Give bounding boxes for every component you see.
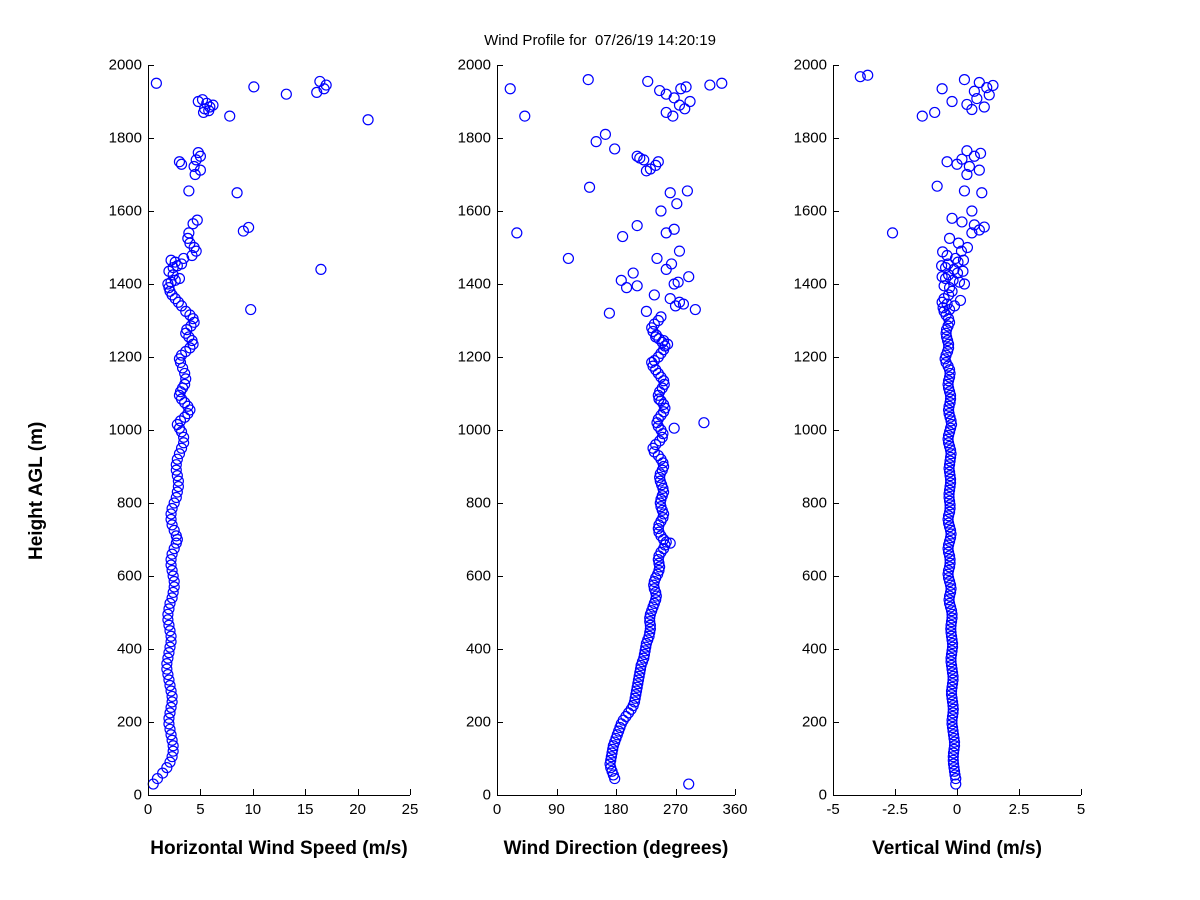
x-tick-vertical-wind-0 [833,789,834,795]
y-tick-label-horizontal-wind-speed-0: 0 [86,787,142,804]
x-tick-vertical-wind-4 [1081,789,1082,795]
scatter-plot-wind-direction [497,65,735,795]
data-point [988,80,998,90]
data-point [682,186,692,196]
y-tick-horizontal-wind-speed-0 [148,795,154,796]
x-tick-label-horizontal-wind-speed-3: 15 [297,801,314,818]
y-tick-label-horizontal-wind-speed-1: 200 [86,714,142,731]
y-tick-vertical-wind-10 [833,65,839,66]
data-point [505,84,515,94]
x-tick-wind-direction-3 [676,789,677,795]
data-point [193,148,203,158]
x-tick-label-wind-direction-4: 360 [722,801,747,818]
y-tick-wind-direction-9 [497,138,503,139]
data-point [563,253,573,263]
scatter-plot-horizontal-wind-speed [148,65,410,795]
data-point [669,224,679,234]
data-point [977,188,987,198]
x-tick-vertical-wind-2 [957,789,958,795]
data-point [962,146,972,156]
x-tick-horizontal-wind-speed-0 [148,789,149,795]
y-tick-label-horizontal-wind-speed-6: 1200 [86,349,142,366]
y-tick-vertical-wind-2 [833,649,839,650]
y-tick-label-wind-direction-1: 200 [435,714,491,731]
data-point [585,182,595,192]
data-point [649,290,659,300]
x-tick-horizontal-wind-speed-5 [410,789,411,795]
x-tick-vertical-wind-3 [1019,789,1020,795]
data-point [684,272,694,282]
data-point [618,232,628,242]
y-tick-vertical-wind-1 [833,722,839,723]
y-tick-label-wind-direction-7: 1400 [435,276,491,293]
data-point [947,213,957,223]
y-tick-label-horizontal-wind-speed-9: 1800 [86,130,142,147]
scatter-plot-vertical-wind [833,65,1081,795]
y-tick-wind-direction-0 [497,795,503,796]
x-tick-label-vertical-wind-3: 2.5 [1009,801,1030,818]
y-tick-label-vertical-wind-6: 1200 [771,349,827,366]
x-tick-label-wind-direction-0: 0 [493,801,501,818]
y-tick-vertical-wind-6 [833,357,839,358]
data-point [930,107,940,117]
data-point [959,186,969,196]
data-point [616,275,626,285]
data-point [863,70,873,80]
data-point [169,525,179,535]
data-point [184,186,194,196]
x-tick-horizontal-wind-speed-2 [253,789,254,795]
data-point [177,443,187,453]
y-tick-vertical-wind-8 [833,211,839,212]
x-tick-label-wind-direction-2: 180 [603,801,628,818]
y-tick-label-horizontal-wind-speed-10: 2000 [86,57,142,74]
y-tick-label-vertical-wind-0: 0 [771,787,827,804]
data-point [316,264,326,274]
x-axis-label-horizontal-wind-speed: Horizontal Wind Speed (m/s) [79,838,479,860]
data-point [246,305,256,315]
y-tick-horizontal-wind-speed-10 [148,65,154,66]
y-tick-vertical-wind-9 [833,138,839,139]
data-point [669,423,679,433]
data-point [673,277,683,287]
figure-root: Wind Profile for 07/26/19 14:20:19 02004… [0,0,1200,900]
x-tick-horizontal-wind-speed-1 [200,789,201,795]
y-tick-label-vertical-wind-8: 1600 [771,203,827,220]
data-point [684,779,694,789]
data-point [939,281,949,291]
x-tick-label-horizontal-wind-speed-0: 0 [144,801,152,818]
y-tick-label-horizontal-wind-speed-7: 1400 [86,276,142,293]
data-point [604,308,614,318]
data-point [674,246,684,256]
data-point [942,157,952,167]
y-tick-label-vertical-wind-5: 1000 [771,422,827,439]
data-point [632,221,642,231]
x-tick-wind-direction-0 [497,789,498,795]
x-tick-vertical-wind-1 [895,789,896,795]
x-tick-label-vertical-wind-4: 5 [1077,801,1085,818]
y-tick-label-vertical-wind-7: 1400 [771,276,827,293]
data-point [600,129,610,139]
y-tick-horizontal-wind-speed-6 [148,357,154,358]
data-point [232,188,242,198]
y-tick-vertical-wind-7 [833,284,839,285]
data-point [937,272,947,282]
data-point [685,97,695,107]
data-point [699,418,709,428]
data-point [979,102,989,112]
y-tick-label-wind-direction-6: 1200 [435,349,491,366]
data-point [363,115,373,125]
data-point [583,75,593,85]
data-point [628,268,638,278]
data-point [690,305,700,315]
y-tick-label-wind-direction-3: 600 [435,568,491,585]
data-point [974,165,984,175]
data-point [917,111,927,121]
data-point [151,78,161,88]
data-point [225,111,235,121]
y-tick-horizontal-wind-speed-7 [148,284,154,285]
data-point [976,148,986,158]
y-tick-label-wind-direction-8: 1600 [435,203,491,220]
x-tick-label-horizontal-wind-speed-5: 25 [402,801,419,818]
x-tick-wind-direction-4 [735,789,736,795]
y-tick-horizontal-wind-speed-5 [148,430,154,431]
data-point [665,188,675,198]
x-tick-label-horizontal-wind-speed-1: 5 [196,801,204,818]
data-point [249,82,259,92]
y-tick-label-horizontal-wind-speed-4: 800 [86,495,142,512]
y-tick-wind-direction-7 [497,284,503,285]
axis-spine-bottom-wind-direction [497,795,735,796]
data-point [652,253,662,263]
data-point [937,261,947,271]
data-point [610,144,620,154]
y-tick-horizontal-wind-speed-3 [148,576,154,577]
data-point [932,181,942,191]
data-point [955,295,965,305]
data-point [967,206,977,216]
y-tick-horizontal-wind-speed-2 [148,649,154,650]
data-point [959,75,969,85]
y-tick-horizontal-wind-speed-9 [148,138,154,139]
panel-wind-direction [497,65,735,795]
x-tick-horizontal-wind-speed-3 [305,789,306,795]
x-axis-label-vertical-wind: Vertical Wind (m/s) [777,838,1137,860]
y-tick-wind-direction-6 [497,357,503,358]
panel-horizontal-wind-speed [148,65,410,795]
y-tick-vertical-wind-0 [833,795,839,796]
data-point [667,259,677,269]
data-point [185,405,195,415]
x-tick-label-vertical-wind-0: -5 [826,801,839,818]
y-tick-label-horizontal-wind-speed-5: 1000 [86,422,142,439]
y-tick-label-vertical-wind-2: 400 [771,641,827,658]
data-point [520,111,530,121]
y-tick-label-vertical-wind-3: 600 [771,568,827,585]
data-point [958,266,968,276]
y-tick-wind-direction-1 [497,722,503,723]
y-tick-label-vertical-wind-4: 800 [771,495,827,512]
data-point [512,228,522,238]
y-tick-vertical-wind-3 [833,576,839,577]
data-point [888,228,898,238]
data-point [281,89,291,99]
figure-title: Wind Profile for 07/26/19 14:20:19 [0,32,1200,49]
data-point [974,78,984,88]
y-tick-horizontal-wind-speed-1 [148,722,154,723]
y-tick-label-horizontal-wind-speed-8: 1600 [86,203,142,220]
y-tick-wind-direction-2 [497,649,503,650]
y-tick-horizontal-wind-speed-4 [148,503,154,504]
y-tick-vertical-wind-5 [833,430,839,431]
data-point [177,159,187,169]
x-tick-label-vertical-wind-2: 0 [953,801,961,818]
data-point [174,157,184,167]
x-axis-label-wind-direction: Wind Direction (degrees) [436,838,796,860]
y-tick-label-vertical-wind-9: 1800 [771,130,827,147]
x-tick-label-horizontal-wind-speed-4: 20 [349,801,366,818]
x-tick-label-wind-direction-1: 90 [548,801,565,818]
x-tick-horizontal-wind-speed-4 [358,789,359,795]
data-point [641,306,651,316]
y-tick-label-wind-direction-0: 0 [435,787,491,804]
data-point [169,544,179,554]
x-tick-label-horizontal-wind-speed-2: 10 [244,801,261,818]
x-tick-label-wind-direction-3: 270 [663,801,688,818]
axis-spine-bottom-vertical-wind [833,795,1081,796]
y-tick-label-wind-direction-4: 800 [435,495,491,512]
y-tick-label-wind-direction-9: 1800 [435,130,491,147]
y-axis-label: Height AGL (m) [26,422,48,560]
y-tick-label-wind-direction-10: 2000 [435,57,491,74]
data-point [174,449,184,459]
data-point [169,498,179,508]
y-tick-wind-direction-8 [497,211,503,212]
data-point [947,97,957,107]
data-point [957,217,967,227]
y-tick-horizontal-wind-speed-8 [148,211,154,212]
y-tick-label-wind-direction-5: 1000 [435,422,491,439]
y-tick-label-horizontal-wind-speed-3: 600 [86,568,142,585]
data-point [656,206,666,216]
y-tick-wind-direction-10 [497,65,503,66]
data-point [661,264,671,274]
y-tick-label-wind-direction-2: 400 [435,641,491,658]
data-point [591,137,601,147]
y-tick-wind-direction-5 [497,430,503,431]
x-tick-label-vertical-wind-1: -2.5 [882,801,908,818]
data-point [705,80,715,90]
data-point [945,233,955,243]
panel-vertical-wind [833,65,1081,795]
data-point [178,363,188,373]
y-tick-wind-direction-3 [497,576,503,577]
y-tick-label-vertical-wind-1: 200 [771,714,827,731]
x-tick-wind-direction-2 [616,789,617,795]
data-point [177,427,187,437]
data-point [632,281,642,291]
data-point [717,78,727,88]
data-point [665,294,675,304]
data-point [672,199,682,209]
y-tick-label-vertical-wind-10: 2000 [771,57,827,74]
data-point [622,283,632,293]
y-tick-vertical-wind-4 [833,503,839,504]
x-tick-wind-direction-1 [557,789,558,795]
y-tick-label-horizontal-wind-speed-2: 400 [86,641,142,658]
axis-spine-bottom-horizontal-wind-speed [148,795,410,796]
y-tick-wind-direction-4 [497,503,503,504]
data-point [937,84,947,94]
data-point [643,76,653,86]
